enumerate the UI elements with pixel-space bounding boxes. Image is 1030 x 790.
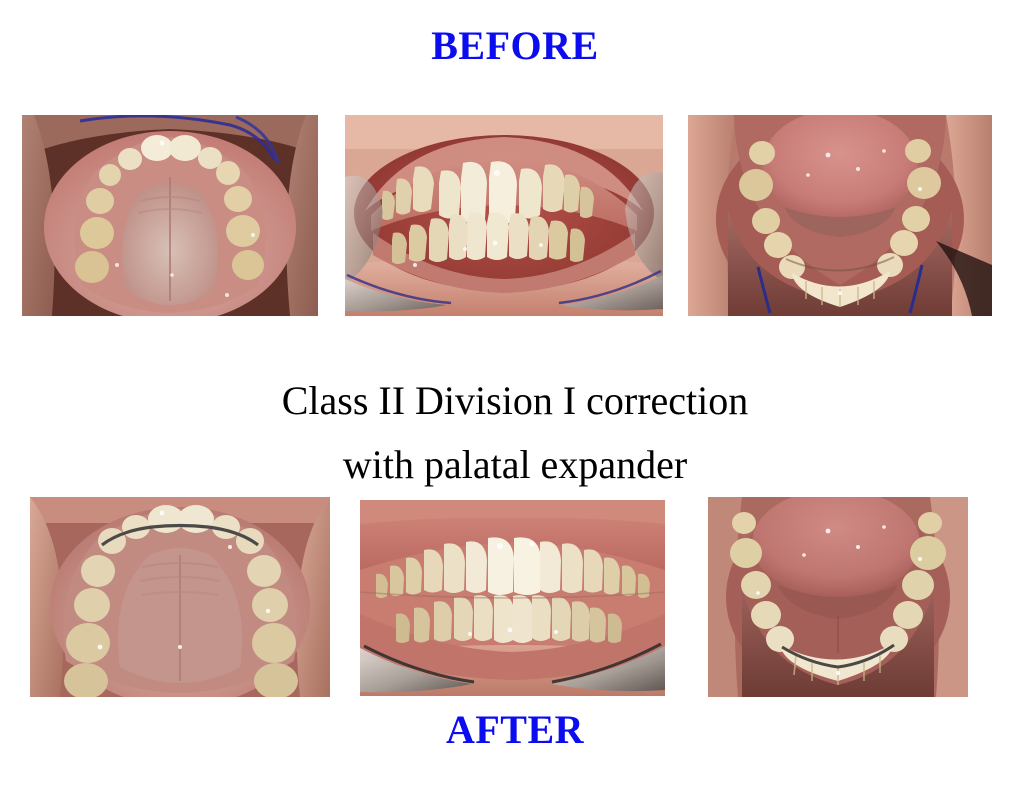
photo-after-upper-occlusal [30,497,330,697]
photo-before-lower-occlusal [688,115,992,316]
before-label: BEFORE [0,22,1030,69]
after-frontal-artwork [360,500,665,696]
photo-before-upper-occlusal [22,115,318,316]
after-lower-occlusal-artwork [708,497,968,697]
before-lower-occlusal-artwork [688,115,992,316]
after-upper-occlusal-artwork [30,497,330,697]
before-upper-occlusal-artwork [22,115,318,316]
caption-line-2: with palatal expander [0,441,1030,488]
after-label: AFTER [0,706,1030,753]
before-frontal-artwork [345,115,663,316]
slide-canvas: BEFORE [0,0,1030,790]
photo-before-frontal [345,115,663,316]
photo-after-frontal [360,500,665,696]
photo-after-lower-occlusal [708,497,968,697]
caption-line-1: Class II Division I correction [0,377,1030,424]
